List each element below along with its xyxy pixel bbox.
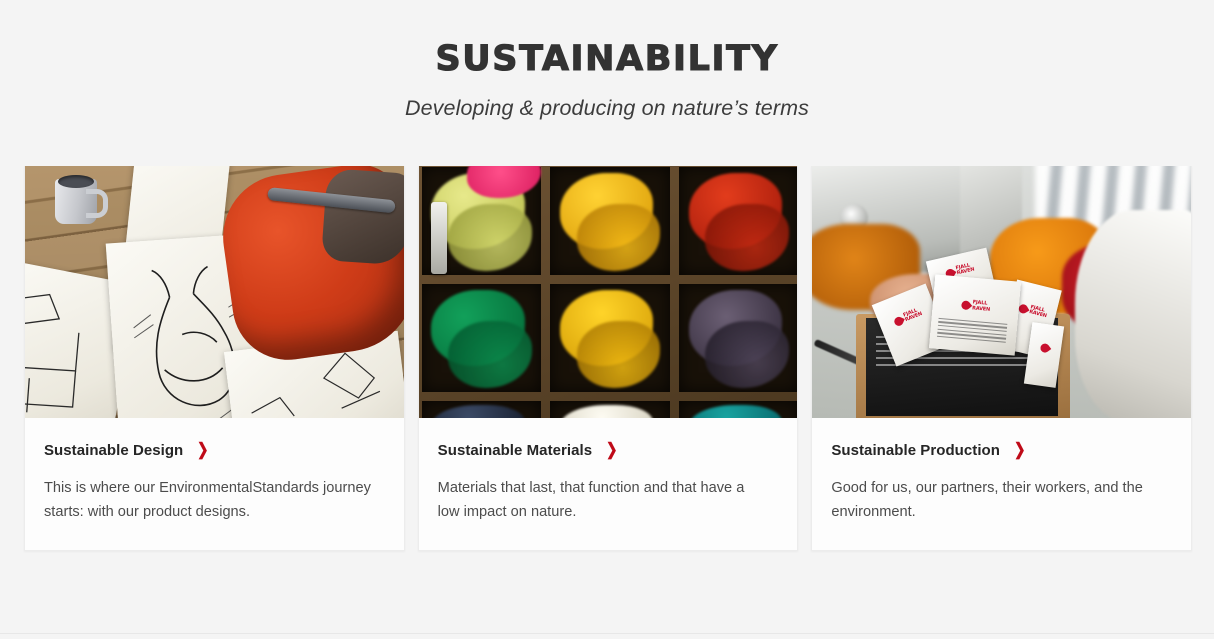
page-subtitle: Developing & producing on nature’s terms bbox=[0, 96, 1214, 121]
logo-word-line2: RAVEN bbox=[972, 306, 990, 313]
wool-cell-yellow-lower bbox=[550, 284, 670, 392]
card-sustainable-design[interactable]: Sustainable Design ❯ This is where our E… bbox=[24, 166, 405, 551]
white-fabric-pile bbox=[1075, 210, 1191, 418]
wool-cell-teal bbox=[679, 401, 797, 418]
fjallraven-logo-icon: FJALL RAVEN bbox=[961, 299, 991, 312]
logo-heart-icon bbox=[960, 299, 973, 312]
metal-clip bbox=[431, 202, 447, 274]
logo-heart-icon bbox=[1039, 341, 1052, 354]
card-body: Sustainable Design ❯ This is where our E… bbox=[25, 418, 404, 550]
wool-cell-purple bbox=[679, 284, 797, 392]
coffee-mug bbox=[55, 179, 97, 224]
card-image-factory-hangtags: FJALL RAVEN FJALL RAVEN bbox=[812, 166, 1191, 418]
hangtag-front: FJALL RAVEN bbox=[929, 274, 1021, 355]
chevron-right-icon: ❯ bbox=[197, 442, 208, 459]
hangtag-text-lines bbox=[937, 318, 1007, 343]
logo-word-line2: RAVEN bbox=[957, 268, 976, 277]
chevron-right-icon: ❯ bbox=[1014, 442, 1025, 459]
card-image-dyed-wool bbox=[419, 166, 798, 418]
card-heading-link[interactable]: Sustainable Production ❯ bbox=[831, 442, 1172, 459]
card-description: Good for us, our partners, their workers… bbox=[831, 476, 1161, 524]
card-description: This is where our EnvironmentalStandards… bbox=[44, 476, 374, 524]
card-title: Sustainable Materials bbox=[438, 442, 592, 459]
card-body: Sustainable Production ❯ Good for us, ou… bbox=[812, 418, 1191, 550]
wool-cell-red bbox=[679, 167, 797, 275]
wool-cell-white bbox=[550, 401, 670, 418]
fjallraven-logo-icon bbox=[1040, 343, 1050, 353]
wool-cell-yellow bbox=[550, 167, 670, 275]
card-image-design-sketches bbox=[25, 166, 404, 418]
card-title: Sustainable Design bbox=[44, 442, 183, 459]
card-body: Sustainable Materials ❯ Materials that l… bbox=[419, 418, 798, 550]
card-sustainable-production[interactable]: FJALL RAVEN FJALL RAVEN bbox=[811, 166, 1192, 551]
red-backpack bbox=[215, 166, 404, 367]
card-sustainable-materials[interactable]: Sustainable Materials ❯ Materials that l… bbox=[418, 166, 799, 551]
card-heading-link[interactable]: Sustainable Design ❯ bbox=[44, 442, 385, 459]
card-heading-link[interactable]: Sustainable Materials ❯ bbox=[438, 442, 779, 459]
bottom-divider bbox=[0, 633, 1214, 634]
card-title: Sustainable Production bbox=[831, 442, 1000, 459]
wool-compartment-grid bbox=[419, 166, 798, 418]
fjallraven-logo-icon: FJALL RAVEN bbox=[1018, 302, 1049, 319]
chevron-right-icon: ❯ bbox=[606, 442, 617, 459]
fjallraven-logo-icon: FJALL RAVEN bbox=[893, 307, 924, 328]
page-title: SUSTAINABILITY bbox=[0, 40, 1214, 79]
cards-row: Sustainable Design ❯ This is where our E… bbox=[24, 166, 1192, 551]
wool-cell-green bbox=[422, 284, 542, 392]
page-header: SUSTAINABILITY Developing & producing on… bbox=[0, 0, 1214, 121]
wool-cell-navy bbox=[422, 401, 542, 418]
card-description: Materials that last, that function and t… bbox=[438, 476, 768, 524]
backpack-panel bbox=[321, 168, 404, 266]
